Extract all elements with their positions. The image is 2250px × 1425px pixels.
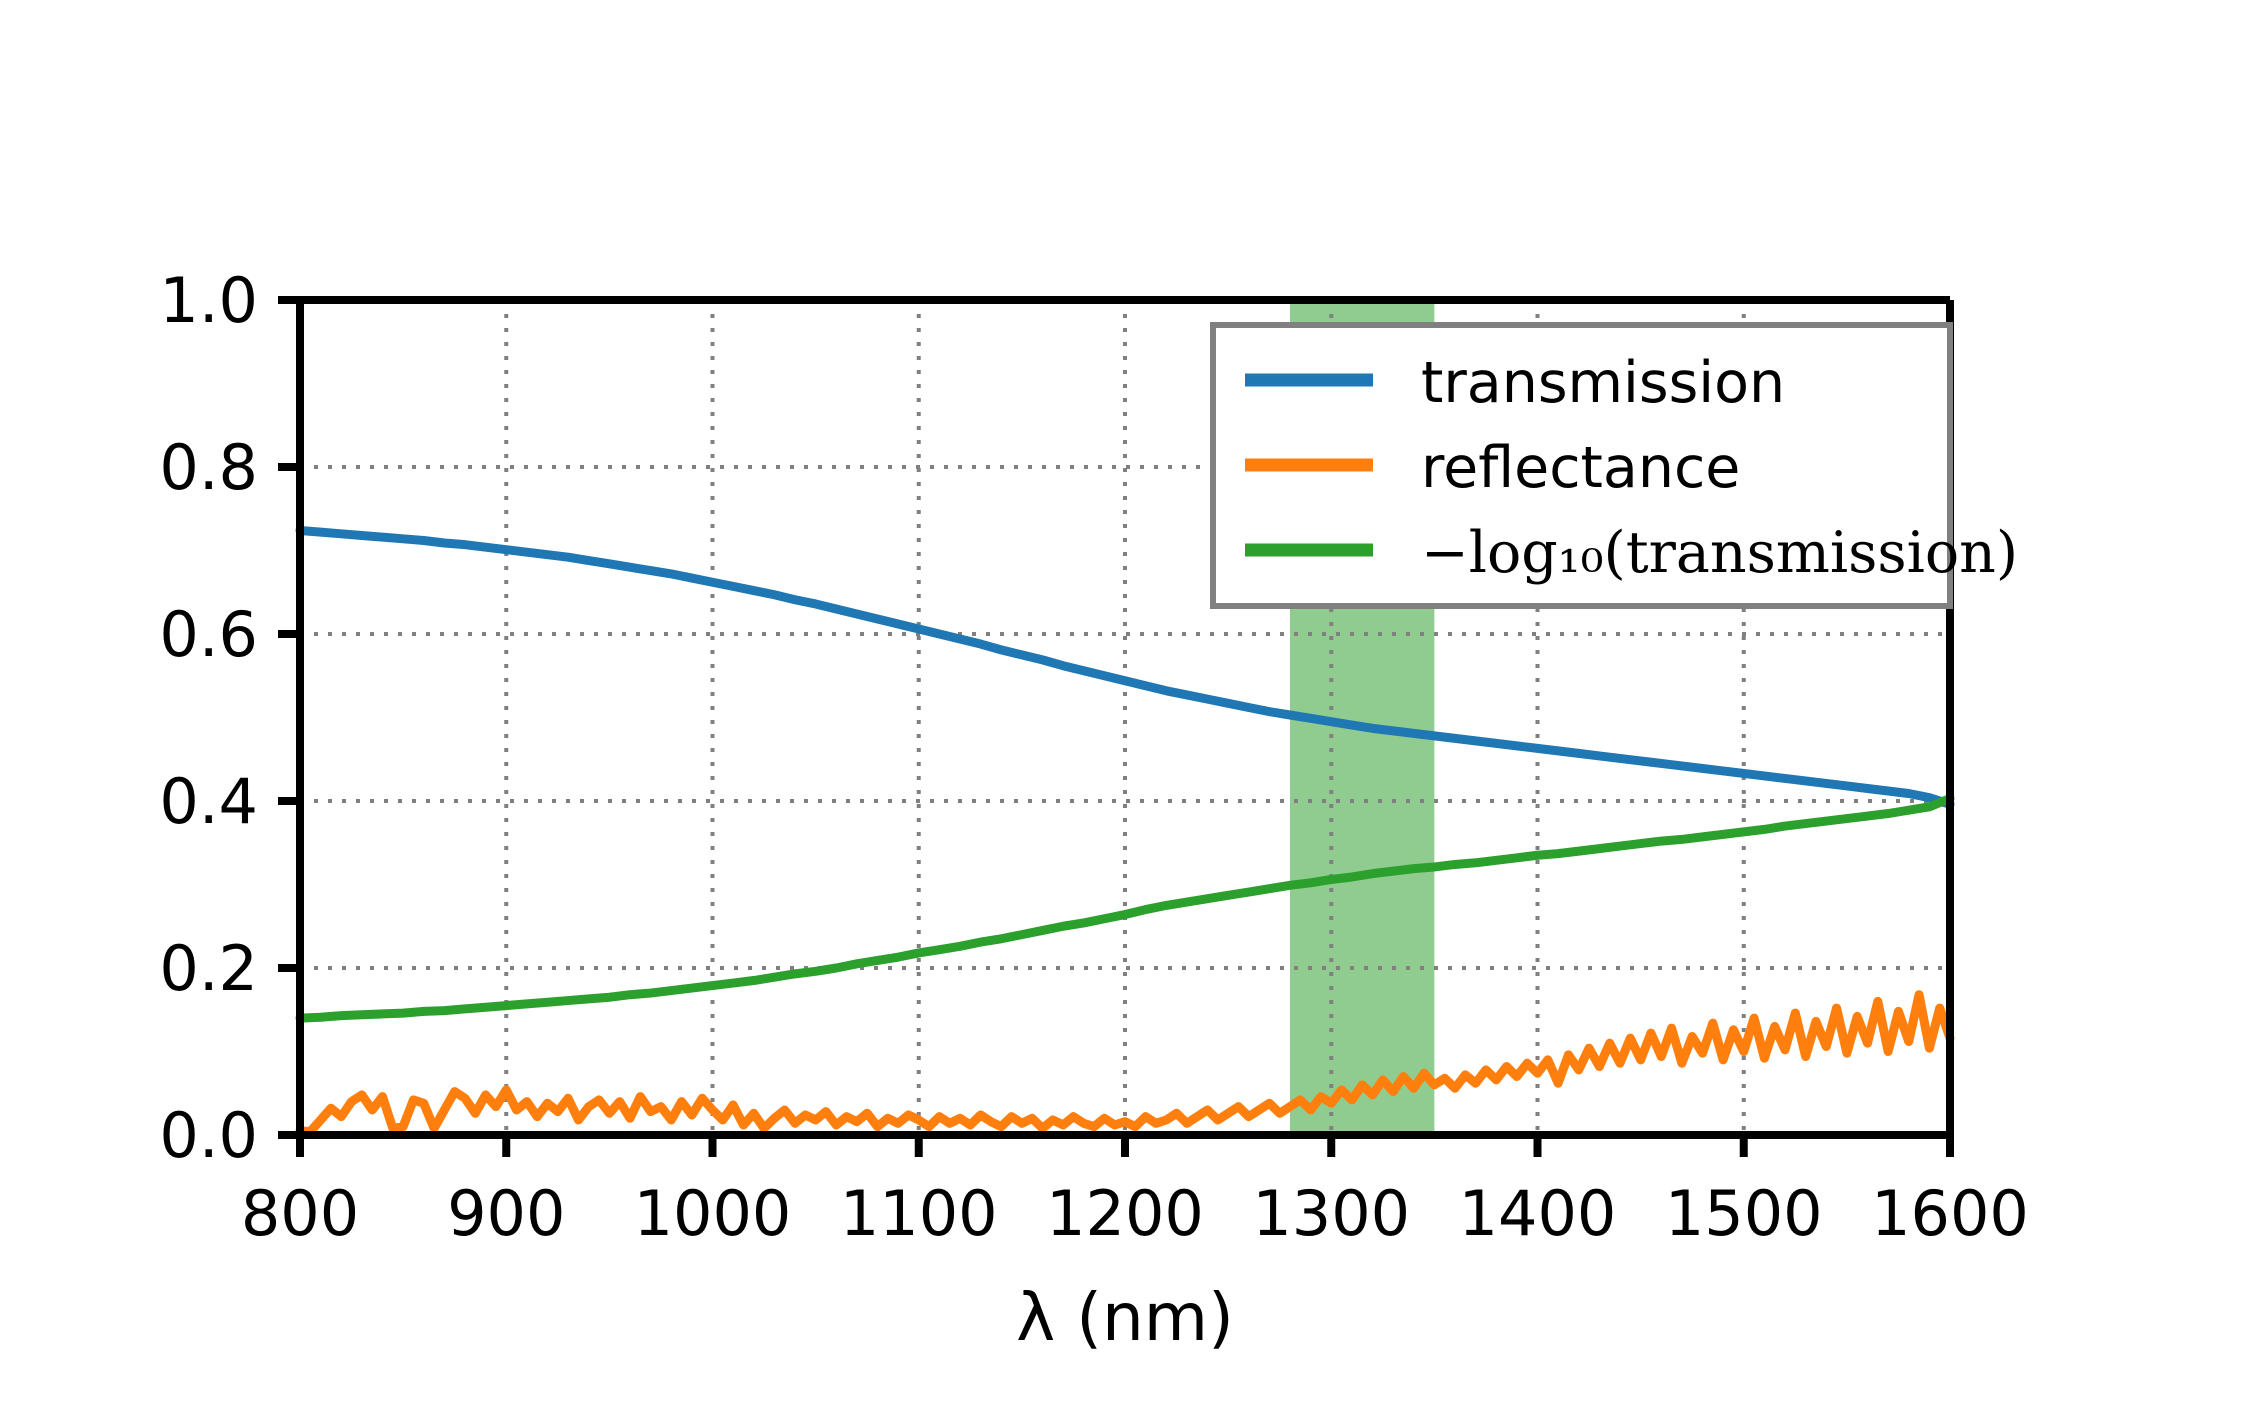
- y-tick-label: 0.0: [159, 1099, 258, 1172]
- y-tick-label: 0.4: [159, 765, 258, 838]
- x-tick-label: 900: [447, 1177, 565, 1250]
- legend-label: −log₁₀(transmission): [1421, 520, 2018, 586]
- x-tick-label: 800: [241, 1177, 359, 1250]
- x-tick-labels: 8009001000110012001300140015001600: [241, 1177, 2029, 1250]
- x-axis-title: λ (nm): [1016, 1279, 1234, 1356]
- x-tick-label: 1200: [1046, 1177, 1204, 1250]
- x-tick-label: 1500: [1665, 1177, 1823, 1250]
- x-tick-label: 1600: [1871, 1177, 2029, 1250]
- x-axis-label: λ (nm): [1016, 1279, 1234, 1356]
- x-tick-label: 1400: [1459, 1177, 1617, 1250]
- y-tick-label: 0.2: [159, 932, 258, 1005]
- legend-label: transmission: [1421, 350, 1785, 416]
- y-tick-label: 0.8: [159, 431, 258, 504]
- line-chart: 8009001000110012001300140015001600 0.00.…: [0, 0, 2250, 1425]
- legend: transmissionreflectance−log₁₀(transmissi…: [1213, 325, 2018, 606]
- y-tick-label: 0.6: [159, 598, 258, 671]
- x-tick-label: 1000: [634, 1177, 792, 1250]
- x-tick-label: 1300: [1252, 1177, 1410, 1250]
- y-tick-label: 1.0: [159, 264, 258, 337]
- legend-label: reflectance: [1421, 435, 1740, 501]
- chart-figure: 8009001000110012001300140015001600 0.00.…: [0, 0, 2250, 1425]
- x-tick-label: 1100: [840, 1177, 998, 1250]
